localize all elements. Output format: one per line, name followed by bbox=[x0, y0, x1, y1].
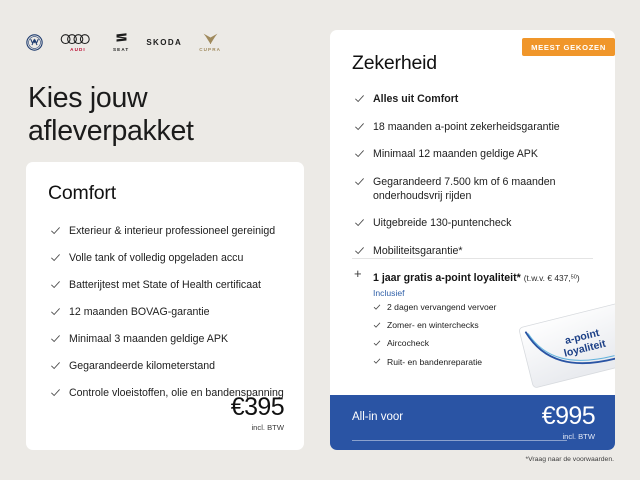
list-item-label: Mobiliteitsgarantie* bbox=[373, 245, 463, 257]
list-item: Gegarandeerde kilometerstand bbox=[50, 359, 286, 373]
page-title: Kies jouw afleverpakket bbox=[28, 82, 298, 148]
check-icon bbox=[50, 333, 61, 344]
status-badge: MEEST GEKOZEN bbox=[522, 38, 615, 56]
list-item-label: Alles uit Comfort bbox=[373, 93, 458, 105]
comfort-price-note: incl. BTW bbox=[231, 423, 284, 432]
list-item: Alles uit Comfort bbox=[354, 92, 600, 106]
list-item: Gegarandeerd 7.500 km of 6 maanden onder… bbox=[354, 175, 600, 203]
package-card-comfort[interactable]: Comfort Exterieur & interieur profession… bbox=[26, 162, 304, 450]
list-item: Minimaal 12 maanden geldige APK bbox=[354, 147, 600, 161]
list-item: 18 maanden a-point zekerheidsgarantie bbox=[354, 120, 600, 134]
list-item: Aircocheck bbox=[373, 338, 543, 349]
list-item: Minimaal 3 maanden geldige APK bbox=[50, 332, 286, 346]
page-root: Audi SEAT SKODA CUPRA Kies jouw afleverp… bbox=[0, 0, 640, 480]
list-item-label: 12 maanden BOVAG-garantie bbox=[69, 306, 210, 318]
brand-logo-strip: Audi SEAT SKODA CUPRA bbox=[26, 31, 221, 53]
check-icon bbox=[354, 217, 365, 228]
plus-icon: + bbox=[354, 267, 362, 280]
check-icon bbox=[354, 121, 365, 132]
list-item-label: 18 maanden a-point zekerheidsgarantie bbox=[373, 121, 560, 133]
list-item-label: Gegarandeerd 7.500 km of 6 maanden onder… bbox=[373, 176, 556, 202]
footnote: *Vraag naar de voorwaarden. bbox=[525, 456, 614, 463]
check-icon bbox=[373, 339, 381, 347]
loyalty-card-line-2: loyaliteit bbox=[563, 338, 608, 360]
list-item: Batterijtest met State of Health certifi… bbox=[50, 278, 286, 292]
list-item-label: Volle tank of volledig opgeladen accu bbox=[69, 252, 243, 264]
skoda-wordmark: SKODA bbox=[146, 38, 182, 47]
check-icon bbox=[50, 360, 61, 371]
zekerheid-price: €995 bbox=[542, 404, 595, 429]
seat-logo: SEAT bbox=[113, 32, 129, 52]
divider bbox=[352, 258, 593, 259]
list-item-label: Aircocheck bbox=[387, 338, 429, 348]
check-icon bbox=[354, 176, 365, 187]
loyalty-value-suffix: ) bbox=[577, 273, 580, 283]
audi-wordmark: Audi bbox=[70, 47, 86, 52]
list-item-label: Uitgebreide 130-puntencheck bbox=[373, 217, 511, 229]
list-item: 2 dagen vervangend vervoer bbox=[373, 302, 543, 313]
check-icon bbox=[354, 93, 365, 104]
package-card-zekerheid[interactable]: Zekerheid MEEST GEKOZEN Alles uit Comfor… bbox=[330, 30, 615, 450]
list-item: Zomer- en winterchecks bbox=[373, 320, 543, 331]
loyalty-label: 1 jaar gratis a-point loyaliteit* bbox=[373, 272, 521, 284]
cupra-wordmark: CUPRA bbox=[199, 47, 221, 52]
loyalty-value-prefix: (t.w.v. € 437, bbox=[524, 273, 571, 283]
check-icon bbox=[373, 303, 381, 311]
allin-price-bar: All-in voor €995 incl. BTW bbox=[330, 395, 615, 450]
comfort-price: €395 bbox=[231, 395, 284, 420]
list-item-label: 2 dagen vervangend vervoer bbox=[387, 302, 496, 312]
list-item: Exterieur & interieur professioneel gere… bbox=[50, 224, 286, 238]
seat-wordmark: SEAT bbox=[113, 47, 129, 52]
list-item-label: Minimaal 12 maanden geldige APK bbox=[373, 148, 538, 160]
list-item: 12 maanden BOVAG-garantie bbox=[50, 305, 286, 319]
allin-label: All-in voor bbox=[352, 411, 403, 423]
cupra-logo: CUPRA bbox=[199, 32, 221, 52]
check-icon bbox=[354, 148, 365, 159]
list-item-label: Minimaal 3 maanden geldige APK bbox=[69, 333, 228, 345]
list-item-label: Gegarandeerde kilometerstand bbox=[69, 360, 215, 372]
check-icon bbox=[50, 387, 61, 398]
zekerheid-price-block: €995 incl. BTW bbox=[542, 404, 595, 441]
check-icon bbox=[354, 245, 365, 256]
list-item: Volle tank of volledig opgeladen accu bbox=[50, 251, 286, 265]
list-item: Uitgebreide 130-puntencheck bbox=[354, 216, 600, 230]
audi-logo: Audi bbox=[60, 33, 96, 52]
volkswagen-logo bbox=[26, 34, 43, 51]
comfort-price-block: €395 incl. BTW bbox=[231, 395, 284, 432]
check-icon bbox=[50, 225, 61, 236]
list-item-label: Zomer- en winterchecks bbox=[387, 320, 479, 330]
check-icon bbox=[50, 279, 61, 290]
list-item-label: Batterijtest met State of Health certifi… bbox=[69, 279, 261, 291]
list-item-label: Exterieur & interieur professioneel gere… bbox=[69, 225, 275, 237]
loyalty-value: (t.w.v. € 437,50) bbox=[524, 273, 580, 283]
loyalty-card-line-1: a-point bbox=[564, 327, 601, 347]
check-icon bbox=[373, 321, 381, 329]
skoda-logo: SKODA bbox=[146, 38, 182, 47]
loyalty-sub-list: 2 dagen vervangend vervoer Zomer- en win… bbox=[373, 302, 543, 375]
comfort-feature-list: Exterieur & interieur professioneel gere… bbox=[50, 224, 286, 414]
comfort-card-title: Comfort bbox=[48, 182, 116, 205]
loyalty-feature-row: + 1 jaar gratis a-point loyaliteit*(t.w.… bbox=[354, 268, 604, 286]
check-icon bbox=[50, 252, 61, 263]
check-icon bbox=[50, 306, 61, 317]
zekerheid-card-title: Zekerheid bbox=[352, 52, 437, 75]
list-item-label: Ruit- en bandenreparatie bbox=[387, 357, 482, 367]
inclusief-label: Inclusief bbox=[373, 288, 405, 298]
check-icon bbox=[373, 357, 381, 365]
list-item: Mobiliteitsgarantie* bbox=[354, 244, 600, 258]
list-item: Ruit- en bandenreparatie bbox=[373, 357, 543, 368]
zekerheid-feature-list: Alles uit Comfort 18 maanden a-point zek… bbox=[354, 92, 600, 272]
divider bbox=[352, 440, 567, 441]
